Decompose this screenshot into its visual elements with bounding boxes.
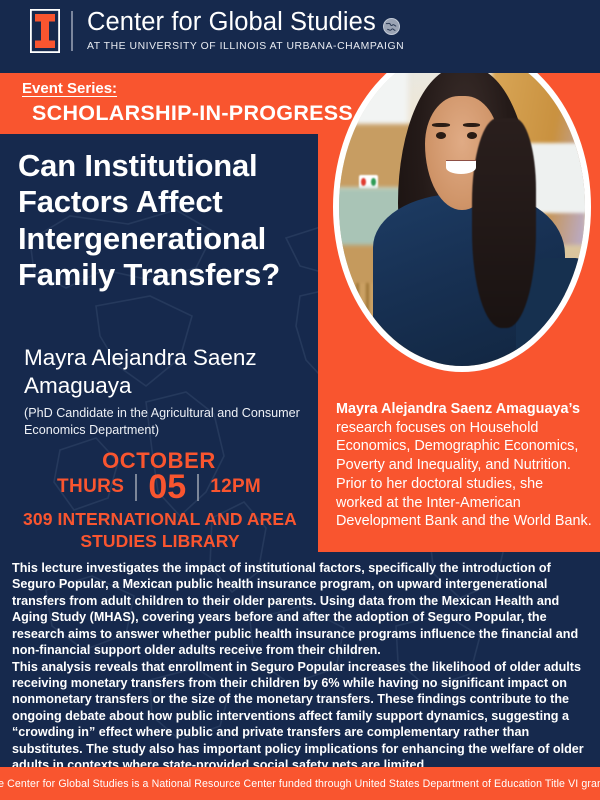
date-divider-1 [135, 474, 137, 501]
event-time: 12PM [210, 476, 261, 498]
wordmark: Center for Global Studies AT THE UNIVERS… [84, 9, 404, 54]
speaker-bio-lead: Mayra Alejandra Saenz Amaguaya’s [336, 401, 580, 417]
event-poster: Center for Global Studies AT THE UNIVERS… [0, 0, 600, 800]
date-divider-2 [197, 474, 199, 501]
portrait-image [339, 48, 585, 366]
speaker-name: Mayra Alejandra Saenz Amaguaya [24, 344, 324, 400]
event-venue: 309 INTERNATIONAL AND AREA STUDIES LIBRA… [10, 508, 310, 553]
portrait-circle [333, 42, 591, 372]
abstract-paragraph-2: This analysis reveals that enrollment in… [12, 659, 590, 774]
event-series-band: Event Series: SCHOLARSHIP-IN-PROGRESS [0, 73, 348, 134]
center-subtitle: AT THE UNIVERSITY OF ILLINOIS AT URBANA-… [87, 41, 404, 52]
speaker-bio: Mayra Alejandra Saenz Amaguaya’s researc… [336, 400, 592, 531]
event-date-row: THURS 05 12PM [0, 470, 318, 504]
abstract-paragraph-1: This lecture investigates the impact of … [12, 560, 590, 659]
event-series-name: SCHOLARSHIP-IN-PROGRESS [32, 101, 353, 126]
event-series-label: Event Series: [22, 80, 117, 97]
branding-lockup: Center for Global Studies AT THE UNIVERS… [30, 9, 404, 54]
event-weekday: THURS [57, 476, 124, 498]
lecture-title: Can Institutional Factors Affect Interge… [18, 148, 314, 293]
logo-divider [71, 11, 73, 51]
footer-bar: The Center for Global Studies is a Natio… [0, 767, 600, 800]
speaker-affiliation: (PhD Candidate in the Agricultural and C… [24, 405, 320, 439]
speaker-bio-text: research focuses on Household Economics,… [336, 420, 592, 530]
site-header: Center for Global Studies AT THE UNIVERS… [0, 0, 600, 73]
center-title: Center for Global Studies [87, 9, 376, 36]
center-title-row: Center for Global Studies [87, 9, 404, 36]
footer-text: The Center for Global Studies is a Natio… [0, 778, 600, 790]
speaker-photo [333, 42, 591, 372]
globe-icon [383, 14, 400, 31]
event-day: 05 [148, 470, 186, 504]
abstract: This lecture investigates the impact of … [12, 560, 590, 773]
illinois-block-i-icon [30, 9, 60, 53]
